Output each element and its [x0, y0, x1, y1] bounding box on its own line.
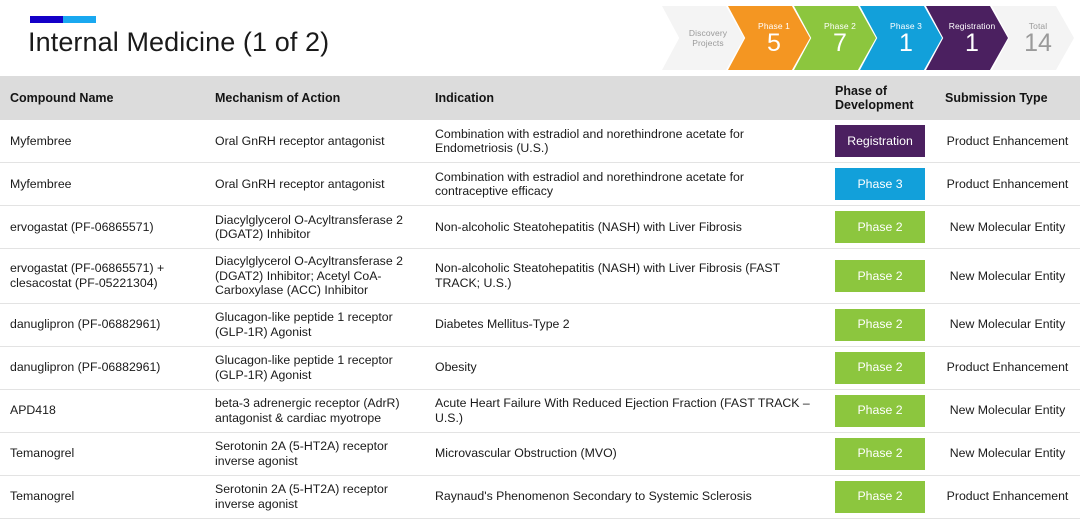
funnel-stage-value: 7 — [833, 30, 847, 56]
table-row: danuglipron (PF-06882961)Glucagon-like p… — [0, 303, 1080, 346]
table-header-row: Compound Name Mechanism of Action Indica… — [0, 76, 1080, 120]
cell-phase-of-development: Phase 2 — [825, 249, 935, 304]
table-row: ervogastat (PF-06865571)Diacylglycerol O… — [0, 206, 1080, 249]
accent-bar-left-segment — [30, 16, 63, 23]
cell-submission-type: New Molecular Entity — [935, 206, 1080, 249]
cell-submission-type: New Molecular Entity — [935, 432, 1080, 475]
cell-indication: Microvascular Obstruction (MVO) — [425, 432, 825, 475]
funnel-stage-value: 1 — [965, 30, 979, 56]
accent-bar-right-segment — [63, 16, 96, 23]
cell-compound-name: Temanogrel — [0, 432, 205, 475]
cell-compound-name: danuglipron (PF-06882961) — [0, 346, 205, 389]
cell-mechanism-of-action: Serotonin 2A (5-HT2A) receptor inverse a… — [205, 432, 425, 475]
cell-phase-of-development: Phase 2 — [825, 389, 935, 432]
table-row: TemanogrelSerotonin 2A (5-HT2A) receptor… — [0, 432, 1080, 475]
cell-phase-of-development: Phase 2 — [825, 475, 935, 518]
phase-status-badge: Phase 2 — [835, 438, 925, 470]
table-row: MyfembreeOral GnRH receptor antagonistCo… — [0, 120, 1080, 163]
table-row: APD418beta-3 adrenergic receptor (AdrR) … — [0, 389, 1080, 432]
column-header-submission-type: Submission Type — [935, 76, 1080, 120]
cell-indication: Diabetes Mellitus-Type 2 — [425, 303, 825, 346]
cell-indication: Non-alcoholic Steatohepatitis (NASH) wit… — [425, 249, 825, 304]
cell-compound-name: ervogastat (PF-06865571) + clesacostat (… — [0, 249, 205, 304]
cell-submission-type: New Molecular Entity — [935, 389, 1080, 432]
column-header-mechanism-of-action: Mechanism of Action — [205, 76, 425, 120]
column-header-phase-line1: Phase of — [835, 84, 887, 98]
page-title: Internal Medicine (1 of 2) — [28, 27, 329, 58]
cell-indication: Combination with estradiol and norethind… — [425, 120, 825, 163]
funnel-stage-label: DiscoveryProjects — [689, 28, 727, 48]
cell-mechanism-of-action: Oral GnRH receptor antagonist — [205, 163, 425, 206]
cell-compound-name: Myfembree — [0, 163, 205, 206]
cell-indication: Obesity — [425, 346, 825, 389]
column-header-indication: Indication — [425, 76, 825, 120]
cell-phase-of-development: Registration — [825, 120, 935, 163]
cell-submission-type: Product Enhancement — [935, 120, 1080, 163]
column-header-phase-line2: Development — [835, 98, 914, 112]
cell-mechanism-of-action: beta-3 adrenergic receptor (AdrR) antago… — [205, 389, 425, 432]
cell-compound-name: ervogastat (PF-06865571) — [0, 206, 205, 249]
cell-mechanism-of-action: Diacylglycerol O-Acyltransferase 2 (DGAT… — [205, 249, 425, 304]
cell-submission-type: Product Enhancement — [935, 163, 1080, 206]
table-row: ervogastat (PF-06865571) + clesacostat (… — [0, 249, 1080, 304]
table-body: MyfembreeOral GnRH receptor antagonistCo… — [0, 120, 1080, 518]
funnel-stage-value: 14 — [1024, 30, 1052, 56]
cell-mechanism-of-action: Diacylglycerol O-Acyltransferase 2 (DGAT… — [205, 206, 425, 249]
cell-compound-name: Temanogrel — [0, 475, 205, 518]
cell-phase-of-development: Phase 2 — [825, 303, 935, 346]
pipeline-table: Compound Name Mechanism of Action Indica… — [0, 76, 1080, 519]
phase-status-badge: Phase 2 — [835, 211, 925, 243]
column-header-compound-name: Compound Name — [0, 76, 205, 120]
cell-mechanism-of-action: Glucagon-like peptide 1 receptor (GLP-1R… — [205, 303, 425, 346]
phase-status-badge: Phase 2 — [835, 260, 925, 292]
table-row: danuglipron (PF-06882961)Glucagon-like p… — [0, 346, 1080, 389]
cell-phase-of-development: Phase 2 — [825, 206, 935, 249]
cell-indication: Combination with estradiol and norethind… — [425, 163, 825, 206]
cell-submission-type: Product Enhancement — [935, 475, 1080, 518]
cell-mechanism-of-action: Oral GnRH receptor antagonist — [205, 120, 425, 163]
funnel-stage-discovery: DiscoveryProjects — [662, 6, 744, 70]
cell-mechanism-of-action: Glucagon-like peptide 1 receptor (GLP-1R… — [205, 346, 425, 389]
table-row: TemanogrelSerotonin 2A (5-HT2A) receptor… — [0, 475, 1080, 518]
cell-phase-of-development: Phase 3 — [825, 163, 935, 206]
phase-status-badge: Registration — [835, 125, 925, 157]
cell-indication: Non-alcoholic Steatohepatitis (NASH) wit… — [425, 206, 825, 249]
funnel-stage-value: 1 — [899, 30, 913, 56]
cell-phase-of-development: Phase 2 — [825, 346, 935, 389]
cell-indication: Acute Heart Failure With Reduced Ejectio… — [425, 389, 825, 432]
phase-funnel-chart: DiscoveryProjectsPhase 15Phase 27Phase 3… — [662, 6, 1074, 70]
cell-submission-type: New Molecular Entity — [935, 249, 1080, 304]
phase-status-badge: Phase 2 — [835, 395, 925, 427]
cell-compound-name: Myfembree — [0, 120, 205, 163]
page-header: Internal Medicine (1 of 2) DiscoveryProj… — [0, 0, 1080, 76]
cell-indication: Raynaud's Phenomenon Secondary to System… — [425, 475, 825, 518]
cell-submission-type: Product Enhancement — [935, 346, 1080, 389]
cell-compound-name: APD418 — [0, 389, 205, 432]
accent-bar — [30, 16, 96, 23]
phase-status-badge: Phase 2 — [835, 309, 925, 341]
cell-mechanism-of-action: Serotonin 2A (5-HT2A) receptor inverse a… — [205, 475, 425, 518]
phase-status-badge: Phase 2 — [835, 481, 925, 513]
cell-submission-type: New Molecular Entity — [935, 303, 1080, 346]
phase-status-badge: Phase 3 — [835, 168, 925, 200]
table-row: MyfembreeOral GnRH receptor antagonistCo… — [0, 163, 1080, 206]
phase-status-badge: Phase 2 — [835, 352, 925, 384]
funnel-stage-value: 5 — [767, 30, 781, 56]
funnel-stage-label-line2: Projects — [692, 38, 724, 48]
cell-phase-of-development: Phase 2 — [825, 432, 935, 475]
column-header-phase-of-development: Phase of Development — [825, 76, 935, 120]
cell-compound-name: danuglipron (PF-06882961) — [0, 303, 205, 346]
